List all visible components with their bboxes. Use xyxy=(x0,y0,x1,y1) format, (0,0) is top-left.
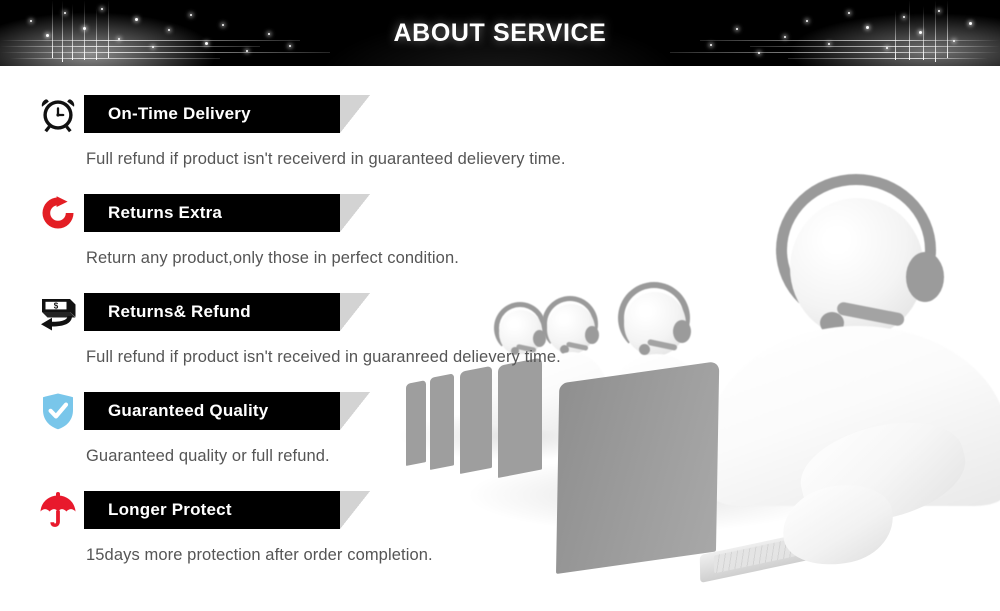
feature-title: Guaranteed Quality xyxy=(84,401,268,421)
feature-title: Returns Extra xyxy=(84,203,222,223)
feature-title-banner: Longer Protect xyxy=(84,491,340,529)
feature-title: Returns& Refund xyxy=(84,302,251,322)
feature-row: Longer Protect 15days more protection af… xyxy=(0,488,1000,587)
feature-row: Guaranteed Quality Guaranteed quality or… xyxy=(0,389,1000,488)
shield-check-icon xyxy=(32,389,84,433)
return-arrow-icon xyxy=(32,191,84,235)
svg-text:$: $ xyxy=(54,301,59,310)
feature-title: On-Time Delivery xyxy=(84,104,251,124)
feature-description: Full refund if product isn't receiverd i… xyxy=(86,150,1000,169)
content-area: On-Time Delivery Full refund if product … xyxy=(0,66,1000,611)
alarm-clock-icon xyxy=(32,92,84,136)
feature-title-banner: Guaranteed Quality xyxy=(84,392,340,430)
banner-tail-triangle xyxy=(340,95,370,133)
feature-description: Return any product,only those in perfect… xyxy=(86,249,1000,268)
about-service-banner: ABOUT SERVICE xyxy=(0,0,1000,611)
service-feature-list: On-Time Delivery Full refund if product … xyxy=(0,92,1000,587)
feature-description: 15days more protection after order compl… xyxy=(86,546,1000,565)
feature-description: Guaranteed quality or full refund. xyxy=(86,447,1000,466)
umbrella-icon xyxy=(32,488,84,532)
feature-title-banner: Returns& Refund xyxy=(84,293,340,331)
banner-tail-triangle xyxy=(340,194,370,232)
feature-row: Returns Extra Return any product,only th… xyxy=(0,191,1000,290)
money-refund-icon: $ xyxy=(32,290,84,334)
banner-tail-triangle xyxy=(340,491,370,529)
page-title: ABOUT SERVICE xyxy=(0,0,1000,66)
feature-title: Longer Protect xyxy=(84,500,232,520)
feature-row: On-Time Delivery Full refund if product … xyxy=(0,92,1000,191)
feature-description: Full refund if product isn't received in… xyxy=(86,348,1000,367)
feature-title-banner: On-Time Delivery xyxy=(84,95,340,133)
header-bar: ABOUT SERVICE xyxy=(0,0,1000,66)
banner-tail-triangle xyxy=(340,392,370,430)
feature-row: $ Returns& Refund Full refund if product… xyxy=(0,290,1000,389)
feature-title-banner: Returns Extra xyxy=(84,194,340,232)
banner-tail-triangle xyxy=(340,293,370,331)
